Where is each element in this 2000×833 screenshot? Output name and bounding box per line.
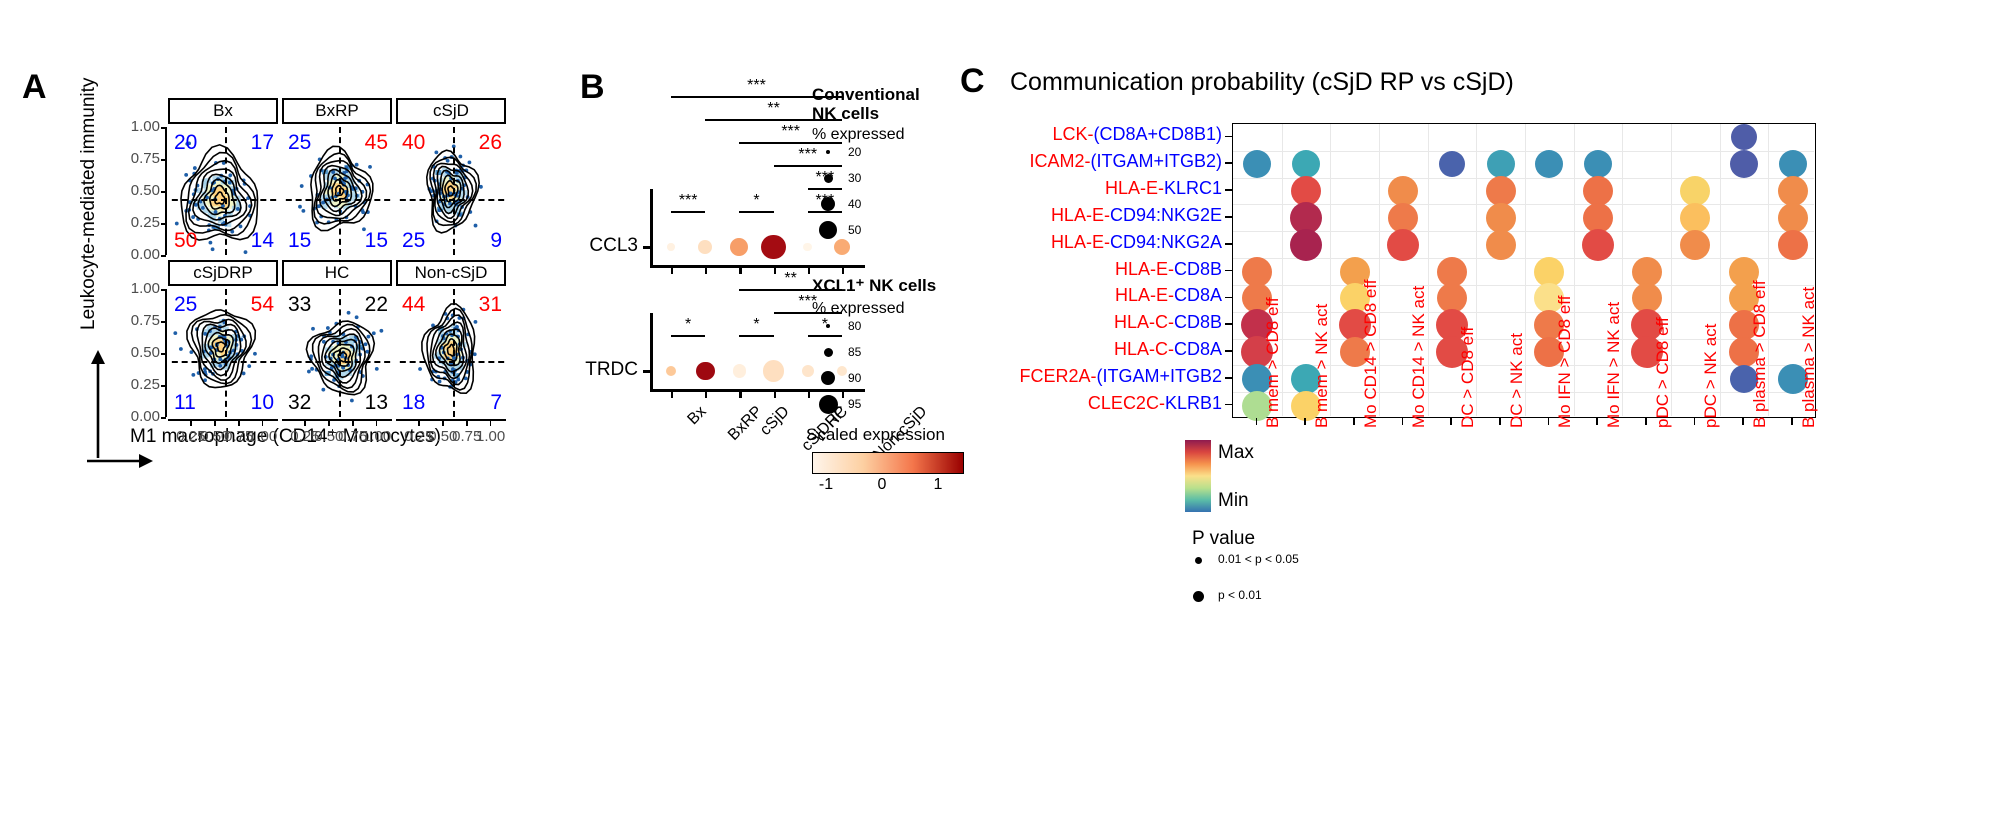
panel-b-significance-bar	[671, 211, 705, 213]
panel-c-col-tick	[1353, 418, 1355, 425]
panel-a-horizontal-threshold	[282, 361, 392, 363]
panel-c-col-tick	[1256, 418, 1258, 425]
panel-a-quadrant-count: 18	[402, 391, 436, 415]
legend-size-dot	[826, 324, 830, 328]
panel-c-col-tick	[1499, 418, 1501, 425]
panel-c-row-label: CLEC2C-KLRB1	[964, 393, 1222, 414]
legend-size-dot	[819, 221, 837, 239]
panel-a-ytick-label: 0.75	[104, 312, 160, 329]
panel-c-col-tick	[1402, 418, 1404, 425]
legend-size-dot	[824, 174, 833, 183]
panel-c-pvalue-title: P value	[1192, 528, 1255, 550]
panel-a-quadrant-count: 17	[240, 131, 274, 155]
panel-a-quadrant-count: 9	[468, 229, 502, 253]
panel-c-ligand: HLA-E-	[1115, 259, 1174, 279]
panel-c-dot	[1730, 150, 1758, 178]
panel-a-xtick	[376, 421, 378, 426]
panel-a-xtick	[442, 421, 444, 426]
panel-c-receptor: (ITGAM+ITGB2	[1096, 366, 1222, 386]
panel-c-column-label: DC > CD8 eff	[1458, 327, 1478, 428]
panel-a-y-axis	[165, 289, 167, 417]
panel-b-xtick	[774, 391, 776, 398]
panel-c-gridline	[1233, 151, 1814, 152]
panel-b-y-axis	[650, 313, 653, 389]
panel-a-quadrant-count: 33	[288, 293, 322, 317]
panel-c-receptor: CD94:NKG2A	[1110, 232, 1222, 252]
panel-a-ytick-label: 0.50	[104, 182, 160, 199]
panel-c-dot	[1439, 151, 1465, 177]
panel-a-ytick-label: 0.25	[104, 376, 160, 393]
legend-size-dot	[821, 371, 835, 385]
legend-size-value: 85	[848, 345, 861, 359]
panel-a-ytick	[161, 255, 166, 257]
panel-a-quadrant-count: 11	[174, 391, 208, 415]
panel-a-xtick	[190, 421, 192, 426]
panel-b-gene-label: CCL3	[558, 235, 638, 257]
panel-c-row-label: HLA-C-CD8B	[964, 312, 1222, 333]
legend-size-value: 80	[848, 319, 861, 333]
panel-b-dot	[763, 360, 785, 382]
panel-a-xtick	[328, 421, 330, 426]
panel-a-quadrant-count: 22	[354, 293, 388, 317]
panel-b-xtick	[739, 391, 741, 398]
panel-a-quadrant-count: 14	[240, 229, 274, 253]
panel-a-xtick	[490, 421, 492, 426]
panel-c-gridline	[1233, 258, 1814, 259]
panel-b-dot	[761, 235, 785, 259]
panel-a-ytick	[161, 417, 166, 419]
legend-size-dot	[824, 348, 833, 357]
panel-a-quadrant-count: 7	[468, 391, 502, 415]
panel-c-row-label: HLA-E-CD8B	[964, 259, 1222, 280]
panel-c-pvalue-label: p < 0.01	[1218, 588, 1262, 602]
panel-a-ytick-label: 0.50	[104, 344, 160, 361]
panel-b-significance-label: *	[739, 192, 773, 210]
panel-c-row-tick	[1225, 216, 1232, 218]
panel-c-column-label: Mo IFN > NK act	[1604, 302, 1624, 428]
panel-c-row-label: ICAM2-(ITGAM+ITGB2)	[964, 151, 1222, 172]
panel-c-dot	[1731, 124, 1757, 150]
panel-b-significance-bar	[671, 335, 705, 337]
panel-c-dot	[1290, 229, 1322, 261]
panel-a-facet-title: Bx	[168, 98, 278, 124]
panel-c-pvalue-dot	[1193, 591, 1204, 602]
panel-c-dot	[1243, 150, 1271, 178]
panel-c-column-label: DC > NK act	[1507, 333, 1527, 428]
panel-a-vertical-threshold	[453, 289, 455, 417]
panel-c-receptor: CD8B	[1174, 259, 1222, 279]
panel-c-dot	[1582, 229, 1614, 261]
panel-c-row-label: FCER2A-(ITGAM+ITGB2	[964, 366, 1222, 387]
panel-c-receptor: CD8B	[1174, 312, 1222, 332]
panel-c-row-tick	[1225, 189, 1232, 191]
panel-a-facet-title: Non-cSjD	[396, 260, 506, 286]
panel-b-dot	[698, 240, 712, 254]
panel-c-dot	[1584, 150, 1612, 178]
panel-c-row-tick	[1225, 323, 1232, 325]
panel-a-xtick	[466, 421, 468, 426]
panel-a-xtick-label: 1.00	[244, 428, 282, 445]
panel-a-y-axis	[165, 127, 167, 255]
panel-b-gene-label: TRDC	[558, 359, 638, 381]
figure-root: A Leukocyte-mediated immunity M1 macroph…	[0, 0, 2000, 833]
panel-c-column-label: pDC > NK act	[1701, 324, 1721, 428]
panel-c-min-label: Min	[1218, 490, 1249, 512]
panel-a-vertical-threshold	[453, 127, 455, 255]
panel-a-ytick-label: 0.75	[104, 150, 160, 167]
panel-c-dot	[1437, 257, 1467, 287]
panel-a-horizontal-threshold	[282, 199, 392, 201]
legend-size-value: 90	[848, 371, 861, 385]
panel-c-receptor: KLRB1	[1165, 393, 1222, 413]
panel-a-vertical-threshold	[225, 127, 227, 255]
panel-c-row-label: HLA-E-KLRC1	[964, 178, 1222, 199]
legend-size-value: 20	[848, 145, 861, 159]
panel-c-column-label: B plasma > NK act	[1799, 287, 1819, 428]
panel-a-quadrant-count: 26	[468, 131, 502, 155]
panel-c-column-label: B plasma > CD8 eff	[1750, 280, 1770, 428]
panel-c-ligand: HLA-C-	[1114, 312, 1174, 332]
panel-c-color-gradient	[1185, 440, 1211, 512]
panel-a-xtick	[238, 421, 240, 426]
panel-a-facet-title: HC	[282, 260, 392, 286]
panel-c-receptor: CD8A	[1174, 285, 1222, 305]
panel-c-row-tick	[1225, 297, 1232, 299]
panel-c-dot	[1486, 176, 1516, 206]
panel-c-dot	[1535, 150, 1563, 178]
panel-b-dot	[696, 362, 715, 381]
panel-b-dot	[730, 238, 748, 256]
panel-c-ligand: ICAM2-	[1029, 151, 1090, 171]
panel-a-ytick-label: 1.00	[104, 280, 160, 297]
panel-a: A Leukocyte-mediated immunity M1 macroph…	[0, 0, 560, 560]
panel-b-ytick	[643, 370, 650, 373]
panel-c-row-tick	[1225, 136, 1232, 138]
panel-c-letter: C	[960, 62, 985, 101]
legend-size-dot	[819, 395, 838, 414]
panel-c-ligand: HLA-C-	[1114, 339, 1174, 359]
panel-c-dot	[1487, 150, 1515, 178]
panel-c-dot	[1778, 203, 1808, 233]
panel-b-significance-label: ***	[671, 192, 705, 210]
panel-c-dot	[1632, 257, 1662, 287]
panel-b-category-label: cSjD	[757, 403, 794, 440]
panel-c-column-label: B mem > CD8 eff	[1263, 297, 1283, 428]
panel-c-ligand: HLA-E-	[1051, 205, 1110, 225]
panel-c-receptor: CD8A	[1174, 339, 1222, 359]
panel-a-quadrant-count: 10	[240, 391, 274, 415]
panel-a-quadrant-count: 31	[468, 293, 502, 317]
panel-c-ligand: FCER2A-	[1019, 366, 1096, 386]
panel-c-dot	[1387, 229, 1419, 261]
legend-conventional-subtitle: % expressed	[812, 126, 905, 144]
panel-a-quadrant-count: 54	[240, 293, 274, 317]
legend-conventional-title-1: Conventional	[812, 85, 982, 105]
panel-a-vertical-threshold	[225, 289, 227, 417]
panel-c-ligand: HLA-E-	[1105, 178, 1164, 198]
panel-c-column-label: B mem > NK act	[1312, 304, 1332, 428]
panel-c-dot	[1486, 203, 1516, 233]
panel-a-xtick	[418, 421, 420, 426]
legend-size-value: 40	[848, 197, 861, 211]
panel-c-dot	[1680, 203, 1710, 233]
panel-a-quadrant-count: 32	[288, 391, 322, 415]
panel-a-xtick	[304, 421, 306, 426]
panel-a-quadrant-count: 44	[402, 293, 436, 317]
panel-a-horizontal-threshold	[396, 199, 506, 201]
panel-b-dot	[666, 366, 676, 376]
panel-c-col-tick	[1791, 418, 1793, 425]
panel-b-legends: Conventional NK cells % expressed 203040…	[800, 0, 980, 560]
panel-c-row-label: HLA-E-CD94:NKG2A	[964, 232, 1222, 253]
panel-c-gridline	[1233, 231, 1814, 232]
panel-c-col-tick	[1694, 418, 1696, 425]
panel-a-quadrant-count: 13	[354, 391, 388, 415]
panel-a-quadrant-count: 25	[288, 131, 322, 155]
panel-c-ligand: LCK-	[1052, 124, 1093, 144]
panel-c-dot	[1388, 176, 1418, 206]
panel-b-dot	[733, 364, 746, 377]
panel-a-quadrant-count: 50	[174, 229, 208, 253]
x-axis-arrow-icon	[85, 448, 155, 474]
panel-c: C Communication probability (cSjD RP vs …	[960, 0, 2000, 833]
panel-c-gridline	[1233, 285, 1814, 286]
panel-c-dot	[1778, 230, 1808, 260]
panel-b-xtick	[671, 267, 673, 274]
panel-b-xtick	[705, 267, 707, 274]
panel-c-col-tick	[1596, 418, 1598, 425]
panel-a-ytick-label: 1.00	[104, 118, 160, 135]
panel-c-dot	[1292, 150, 1320, 178]
panel-b-xtick	[671, 391, 673, 398]
panel-a-ytick-label: 0.00	[104, 246, 160, 263]
panel-a-quadrant-count: 15	[288, 229, 322, 253]
panel-b-significance-bar	[739, 335, 773, 337]
panel-b-category-label: Bx	[685, 403, 711, 429]
panel-c-row-tick	[1225, 270, 1232, 272]
panel-c-gridline	[1233, 204, 1814, 205]
panel-b-letter: B	[580, 68, 605, 107]
panel-b-xtick	[705, 391, 707, 398]
legend-xcl1-subtitle: % expressed	[812, 300, 905, 318]
panel-c-row-label: HLA-E-CD94:NKG2E	[964, 205, 1222, 226]
panel-c-title: Communication probability (cSjD RP vs cS…	[1010, 68, 1514, 97]
legend-colorbar	[812, 452, 964, 474]
panel-a-horizontal-threshold	[396, 361, 506, 363]
panel-a-ytick-label: 0.00	[104, 408, 160, 425]
panel-c-col-tick	[1548, 418, 1550, 425]
legend-colorbar-title: Scaled expression	[806, 425, 945, 445]
legend-size-dot	[821, 197, 835, 211]
legend-size-value: 50	[848, 223, 861, 237]
panel-a-facet-title: BxRP	[282, 98, 392, 124]
legend-size-value: 30	[848, 171, 861, 185]
panel-a-quadrant-count: 25	[402, 229, 436, 253]
panel-a-ytick-label: 0.25	[104, 214, 160, 231]
panel-c-dot	[1486, 230, 1516, 260]
panel-b-significance-label: *	[671, 316, 705, 334]
panel-a-horizontal-threshold	[168, 361, 278, 363]
panel-a-quadrant-count: 20	[174, 131, 208, 155]
panel-c-dot	[1583, 176, 1613, 206]
panel-c-dot	[1242, 257, 1272, 287]
panel-a-ylabel: Leukocyte-mediated immunity	[78, 78, 100, 330]
y-axis-arrow-icon	[85, 350, 111, 460]
panel-c-receptor: (CD8A+CD8B1)	[1093, 124, 1222, 144]
legend-colorbar-tick: 0	[864, 476, 900, 494]
panel-c-col-tick	[1304, 418, 1306, 425]
panel-b-significance-bar	[739, 211, 773, 213]
panel-a-facet-title: cSjD	[396, 98, 506, 124]
panel-c-pvalue-label: 0.01 < p < 0.05	[1218, 552, 1299, 566]
panel-a-quadrant-count: 40	[402, 131, 436, 155]
panel-c-column-label: pDC > CD8 eff	[1653, 317, 1673, 428]
panel-c-row-label: HLA-C-CD8A	[964, 339, 1222, 360]
legend-size-value: 95	[848, 397, 861, 411]
panel-c-dot	[1534, 257, 1564, 287]
panel-a-xtick-label: 1.00	[472, 428, 510, 445]
panel-c-dot	[1779, 150, 1807, 178]
panel-a-quadrant-count: 15	[354, 229, 388, 253]
panel-a-vertical-threshold	[339, 127, 341, 255]
panel-c-col-tick	[1742, 418, 1744, 425]
panel-b-significance-label: *	[739, 316, 773, 334]
panel-c-receptor: CD94:NKG2E	[1110, 205, 1222, 225]
panel-c-row-tick	[1225, 350, 1232, 352]
legend-colorbar-tick: 1	[920, 476, 956, 494]
panel-a-quadrant-count: 25	[174, 293, 208, 317]
legend-colorbar-tick: -1	[808, 476, 844, 494]
panel-a-quadrant-count: 45	[354, 131, 388, 155]
panel-a-xtick-label: 1.00	[358, 428, 396, 445]
panel-a-vertical-threshold	[339, 289, 341, 417]
panel-c-column-label: Mo CD14 > CD8 eff	[1361, 279, 1381, 428]
panel-a-facet-title: cSjDRP	[168, 260, 278, 286]
legend-conventional-title-2: NK cells	[812, 104, 982, 124]
panel-c-column-label: Mo CD14 > NK act	[1409, 286, 1429, 428]
panel-c-receptor: (ITGAM+ITGB2)	[1090, 151, 1222, 171]
panel-c-receptor: KLRC1	[1164, 178, 1222, 198]
panel-c-max-label: Max	[1218, 442, 1254, 464]
panel-c-dot	[1680, 176, 1710, 206]
panel-c-row-tick	[1225, 377, 1232, 379]
panel-b-y-axis	[650, 189, 653, 265]
panel-a-horizontal-threshold	[168, 199, 278, 201]
panel-a-xtick	[214, 421, 216, 426]
panel-c-ligand: HLA-E-	[1051, 232, 1110, 252]
panel-c-row-tick	[1225, 404, 1232, 406]
panel-c-column-label: Mo IFN > CD8 eff	[1555, 296, 1575, 428]
panel-c-row-tick	[1225, 162, 1232, 164]
panel-c-ligand: HLA-E-	[1115, 285, 1174, 305]
panel-a-xtick	[352, 421, 354, 426]
panel-a-letter: A	[22, 68, 47, 107]
panel-c-col-tick	[1450, 418, 1452, 425]
panel-b-ytick	[643, 246, 650, 249]
legend-size-dot	[826, 150, 830, 154]
panel-c-pvalue-dot	[1195, 557, 1202, 564]
panel-c-dot	[1778, 176, 1808, 206]
panel-c-gridline	[1233, 178, 1814, 179]
panel-c-row-label: LCK-(CD8A+CD8B1)	[964, 124, 1222, 145]
panel-b-dot	[667, 243, 675, 251]
panel-c-row-label: HLA-E-CD8A	[964, 285, 1222, 306]
panel-c-ligand: CLEC2C-	[1088, 393, 1165, 413]
panel-c-col-tick	[1645, 418, 1647, 425]
panel-c-dot	[1680, 230, 1710, 260]
panel-a-xtick	[262, 421, 264, 426]
panel-c-row-tick	[1225, 243, 1232, 245]
